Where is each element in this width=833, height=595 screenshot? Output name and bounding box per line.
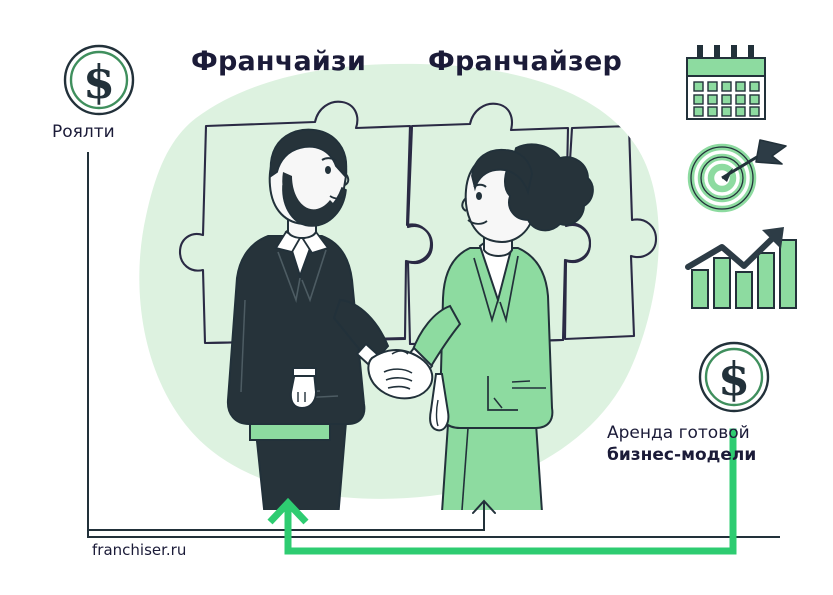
- background-blob: [139, 64, 659, 499]
- rent-business-model-caption: Аренда готовой бизнес-модели: [607, 422, 756, 466]
- dollar-coin-icon-left: $: [65, 46, 133, 114]
- svg-text:$: $: [83, 55, 115, 109]
- growth-bar-chart-icon: [688, 227, 796, 308]
- franchise-illustration: $ $: [0, 0, 833, 595]
- title-franchisor: Франчайзер: [428, 46, 622, 77]
- target-arrow-icon: [691, 140, 786, 209]
- dollar-coin-icon-right: $: [700, 343, 768, 411]
- calendar-icon: [687, 45, 765, 119]
- rent-caption-line1: Аренда готовой: [607, 422, 756, 444]
- rent-caption-line2: бизнес-модели: [607, 444, 756, 466]
- title-franchisee: Франчайзи: [191, 46, 366, 77]
- site-url-label: franchiser.ru: [92, 541, 186, 559]
- royalty-label: Роялти: [52, 122, 115, 142]
- illustration-canvas: $ $: [0, 0, 833, 595]
- svg-text:$: $: [718, 352, 750, 406]
